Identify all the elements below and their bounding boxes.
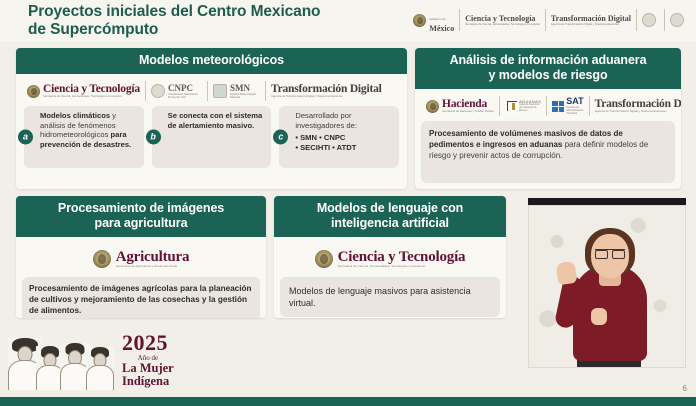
logo-transformacion-digital-meteo: Transformación Digital Agencia de Transf… — [266, 81, 387, 101]
meteo-item-c-text: Desarrollado por investigadores de: — [295, 111, 394, 130]
ipicyt-mark-icon — [670, 13, 684, 27]
panel-modelos-meteorologicos: Modelos meteorológicos Ciencia y Tecnolo… — [16, 48, 407, 189]
footer-accent-bar — [0, 397, 696, 406]
meteo-item-b: b Se conecta con el sistema de alertamie… — [152, 106, 272, 168]
logo-agricultura-label: Agricultura — [116, 249, 190, 265]
interpreter-video-frame-top — [528, 198, 686, 205]
logo-gobierno-mexico: Gobierno de México — [408, 9, 460, 31]
logo-agricultura-sub: Secretaría de Agricultura y Desarrollo R… — [116, 265, 190, 269]
logo-cnpc-sub: Coordinación Nacional de Protección Civi… — [168, 93, 202, 99]
logo-atdt-sub: Agencia de Transformación Digital y Tele… — [595, 110, 681, 113]
panel-meteo-logo-row: Ciencia y Tecnología Secretaría de Cienc… — [22, 80, 401, 102]
panel-agri-heading: Procesamiento de imágenes para agricultu… — [16, 196, 266, 237]
logo-smn-sub: Servicio Meteorológico Nacional — [230, 93, 260, 99]
logo-agricultura: Agricultura Secretaría de Agricultura y … — [22, 246, 260, 272]
item-badge-b: b — [146, 130, 161, 145]
logo-ciencia-tecnologia-meteo: Ciencia y Tecnología Secretaría de Cienc… — [22, 81, 146, 101]
woman-figure-4 — [86, 347, 114, 390]
logo-hacienda-sub: Secretaría de Hacienda y Crédito Público — [442, 110, 494, 113]
interpreter-lower-hand — [591, 308, 607, 325]
panel-meteo-items: a Modelos climáticos y análisis de fenóm… — [22, 106, 401, 170]
logo-ipicyt — [665, 9, 692, 31]
panel-meteo-heading: Modelos meteorológicos — [16, 48, 407, 74]
ia-description-card: Modelos de lenguaje masivos para asisten… — [280, 277, 500, 317]
aduana-description-text: Procesamiento de volúmenes masivos de da… — [429, 128, 667, 161]
footer-logo-line1: La Mujer — [122, 362, 174, 376]
panel-aduana-heading-line2: y modelos de riesgo — [489, 68, 608, 82]
panel-agri-heading-line1: Procesamiento de imágenes — [58, 201, 224, 215]
meteo-bullet-line-2: • SECIHTI • ATDT — [295, 143, 394, 152]
logo-atdt-sub: Agencia de Transformación Digital y Tele… — [271, 95, 382, 98]
logo-transformacion-digital: Transformación Digital Agencia de Transf… — [546, 9, 637, 31]
logo-atdt-label: Transformación Digital — [551, 15, 631, 23]
mexican-eagle-icon — [413, 14, 426, 27]
meteo-item-c: c Desarrollado por investigadores de: • … — [279, 106, 399, 168]
panel-ia-heading: Modelos de lenguaje con inteligencia art… — [274, 196, 506, 237]
smn-map-icon — [213, 84, 227, 98]
footer-logo-line2: Indígena — [122, 375, 174, 389]
mexican-eagle-icon — [315, 250, 333, 268]
page-title-line2: de Supercómputo — [28, 21, 388, 39]
panel-meteo-body: Ciencia y Tecnología Secretaría de Cienc… — [16, 74, 407, 176]
meteo-item-b-bold1: Se conecta con el sistema de alertamient… — [168, 111, 263, 130]
logo-ciencia-sub: Secretaría de Ciencia, Humanidades, Tecn… — [43, 95, 140, 98]
logo-cnpc: CNPC Coordinación Nacional de Protección… — [146, 81, 208, 101]
panel-ia-heading-line2: inteligencia artificial — [331, 216, 449, 230]
eimss-mark-icon — [642, 13, 656, 27]
footer-logo-text: 2025 Año de La Mujer Indígena — [122, 332, 174, 389]
mexican-eagle-icon — [27, 85, 40, 98]
logo-sat: SAT Servicio de Administración Tributari… — [547, 96, 589, 116]
panel-aduana-heading: Análisis de información aduanera y model… — [415, 48, 681, 89]
meteo-item-c-bullets: • SMN • CNPC • SECIHTI • ATDT — [295, 133, 394, 152]
logo-cnpc-label: CNPC — [168, 84, 202, 93]
cnpc-shield-icon — [151, 84, 165, 98]
logo-ciencia-tecnologia: Ciencia y Tecnología Secretaría de Cienc… — [460, 9, 546, 31]
panel-ia-heading-line1: Modelos de lenguaje con — [317, 201, 463, 215]
logo-ciencia-tecnologia-ia: Ciencia y Tecnología Secretaría de Cienc… — [280, 246, 500, 272]
panel-ia-body: Ciencia y Tecnología Secretaría de Cienc… — [274, 237, 506, 318]
page-title: Proyectos iniciales del Centro Mexicano … — [28, 3, 388, 39]
panel-aduana-body: Hacienda Secretaría de Hacienda y Crédit… — [415, 89, 681, 189]
panel-agri-body: Agricultura Secretaría de Agricultura y … — [16, 237, 266, 318]
logo-sat-label: SAT — [566, 97, 583, 106]
aduana-description-card: Procesamiento de volúmenes masivos de da… — [421, 121, 675, 183]
mexican-eagle-icon — [93, 250, 111, 268]
sign-language-interpreter-video[interactable] — [528, 205, 686, 368]
agri-description-text: Procesamiento de imágenes agrícolas para… — [29, 283, 253, 316]
logo-gobierno-overline: Gobierno de — [429, 17, 446, 21]
figure-torso — [86, 365, 114, 390]
item-badge-a: a — [18, 130, 33, 145]
logo-ciencia-label: Ciencia y Tecnología — [338, 249, 466, 265]
ia-description-text: Modelos de lenguaje masivos para asisten… — [289, 285, 491, 309]
logo-eimss — [637, 9, 665, 31]
logo-smn: SMN Servicio Meteorológico Nacional — [208, 81, 266, 101]
logo-atdt-sub: Agencia de Transformación Digital y Tele… — [551, 23, 631, 26]
page-title-line1: Proyectos iniciales del Centro Mexicano — [28, 3, 320, 20]
panel-modelos-lenguaje-ia: Modelos de lenguaje con inteligencia art… — [274, 196, 506, 318]
header-logo-strip: Gobierno de México Ciencia y Tecnología … — [408, 9, 692, 31]
meteo-item-b-text: Se conecta con el sistema de alertamient… — [168, 111, 267, 130]
logo-aduanas-sub: Agencia Nacional de Aduanas de México — [519, 103, 541, 112]
indigenous-women-illustration-icon — [6, 330, 118, 390]
aduanas-mark-icon — [505, 100, 519, 113]
panel-agri-heading-line2: para agricultura — [95, 216, 188, 230]
sat-squares-icon — [552, 101, 564, 112]
logo-smn-label: SMN — [230, 84, 260, 93]
mexican-eagle-icon — [426, 100, 439, 113]
meteo-bullet-line-1: • SMN • CNPC — [295, 133, 394, 142]
item-badge-c: c — [273, 130, 288, 145]
agri-description-card: Procesamiento de imágenes agrícolas para… — [22, 277, 260, 318]
logo-ciencia-sub: Secretaría de Ciencia, Humanidades, Tecn… — [338, 265, 466, 269]
logo-gobierno-label: México — [429, 25, 454, 33]
logo-transformacion-digital-aduana: Transformación Digital Agencia de Transf… — [590, 96, 681, 116]
meteo-item-a: a Modelos climáticos y análisis de fenóm… — [24, 106, 144, 168]
glasses-icon — [595, 249, 625, 257]
panel-aduana-logo-row: Hacienda Secretaría de Hacienda y Crédit… — [421, 95, 675, 117]
meteo-item-a-bold1: Modelos climáticos — [40, 111, 110, 120]
meteo-item-a-text: Modelos climáticos y análisis de fenómen… — [40, 111, 139, 149]
logo-hacienda: Hacienda Secretaría de Hacienda y Crédit… — [421, 96, 500, 116]
slide-canvas: Proyectos iniciales del Centro Mexicano … — [0, 0, 696, 406]
interpreter-raised-hand — [556, 261, 578, 285]
logo-sat-sub: Servicio de Administración Tributaria — [566, 106, 583, 115]
page-number: 6 — [683, 384, 687, 393]
footer-logo-mujer-indigena: 2025 Año de La Mujer Indígena — [6, 328, 196, 392]
logo-ciencia-sub: Secretaría de Ciencia, Humanidades, Tecn… — [465, 23, 540, 26]
panel-procesamiento-imagenes-agricultura: Procesamiento de imágenes para agricultu… — [16, 196, 266, 318]
logo-aduanas: ADUANAS Agencia Nacional de Aduanas de M… — [500, 96, 547, 116]
panel-analisis-aduanera: Análisis de información aduanera y model… — [415, 48, 681, 189]
panel-aduana-heading-line1: Análisis de información aduanera — [450, 53, 647, 67]
logo-ciencia-label: Ciencia y Tecnología — [465, 15, 540, 23]
footer-logo-year: 2025 — [122, 332, 174, 354]
